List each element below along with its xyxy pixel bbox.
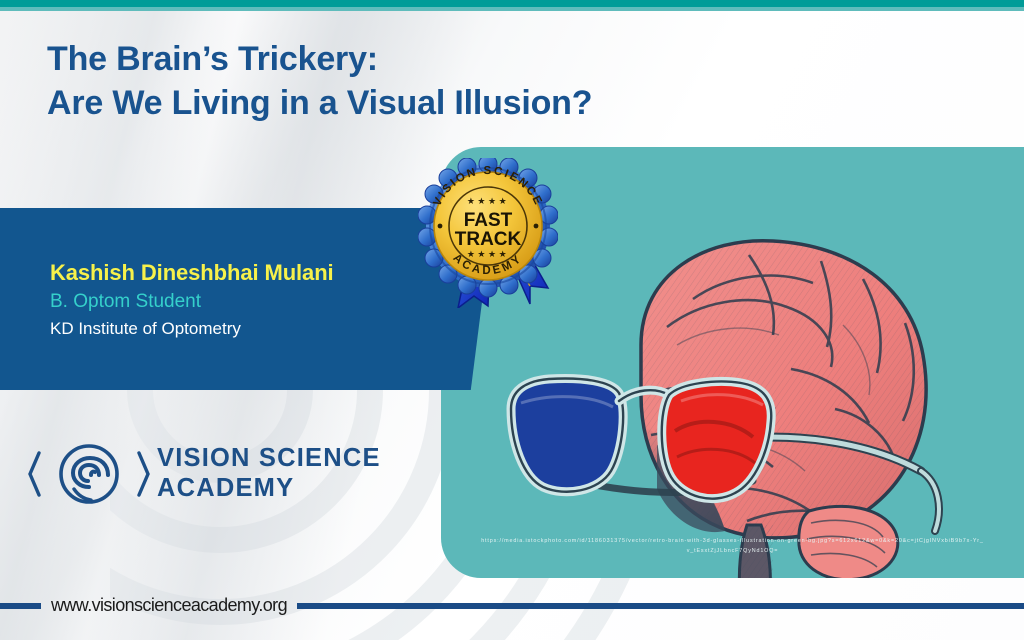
top-accent-strip xyxy=(0,0,1024,7)
footer: www.visionscienceacademy.org xyxy=(0,595,1024,616)
footer-website-url[interactable]: www.visionscienceacademy.org xyxy=(41,595,297,616)
speaker-name: Kashish Dineshbhai Mulani xyxy=(50,259,470,288)
svg-text:★★★★: ★★★★ xyxy=(467,250,509,260)
image-attribution: https://media.istockphoto.com/id/1186031… xyxy=(441,537,1024,556)
fast-track-award-badge: VISION SCIENCE ACADEMY ★★★★ ★★★★ FAST TR… xyxy=(418,158,558,308)
page-title: The Brain’s Trickery: Are We Living in a… xyxy=(47,38,747,126)
top-accent-strip-secondary xyxy=(0,7,1024,11)
logo-mark-icon xyxy=(25,437,153,511)
svg-text:★★★★: ★★★★ xyxy=(467,197,509,207)
vision-science-academy-logo: VISION SCIENCE ACADEMY xyxy=(25,437,381,511)
speaker-info: Kashish Dineshbhai Mulani B. Optom Stude… xyxy=(50,259,470,341)
logo-line-1: VISION SCIENCE xyxy=(157,444,381,472)
speaker-role: B. Optom Student xyxy=(50,289,470,315)
logo-line-2: ACADEMY xyxy=(157,474,381,504)
logo-wordmark: VISION SCIENCE ACADEMY xyxy=(157,444,381,503)
footer-rule-right xyxy=(297,603,1024,609)
badge-center-line1: FAST xyxy=(464,210,513,231)
badge-center-line2: TRACK xyxy=(455,229,522,250)
title-line-2: Are We Living in a Visual Illusion? xyxy=(47,82,747,126)
footer-rule-left xyxy=(0,603,41,609)
title-line-1: The Brain’s Trickery: xyxy=(47,40,378,78)
slide-canvas: The Brain’s Trickery: Are We Living in a… xyxy=(0,0,1024,640)
speaker-organization: KD Institute of Optometry xyxy=(50,317,470,341)
brain-with-3d-glasses-illustration xyxy=(491,195,991,578)
